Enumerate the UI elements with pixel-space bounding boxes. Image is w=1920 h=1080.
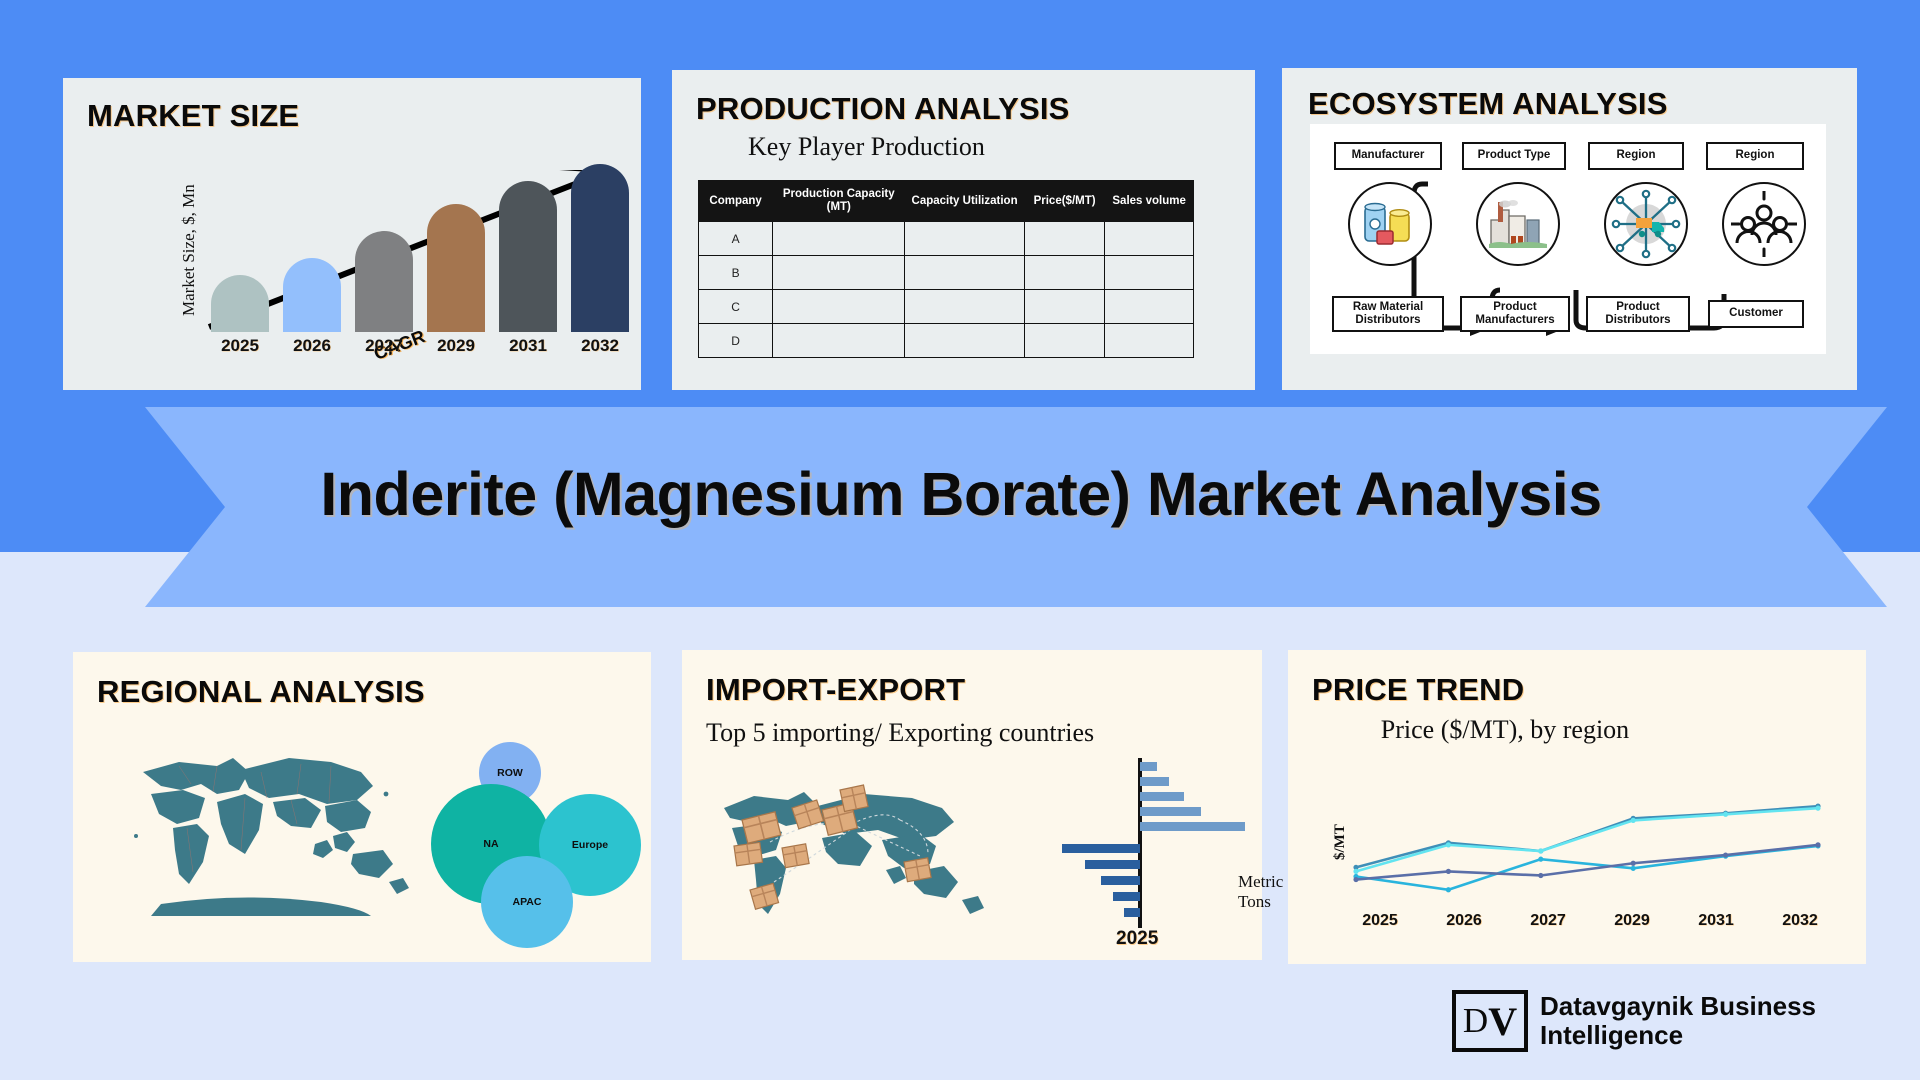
cell-company: C — [699, 290, 773, 324]
card-title-regional: REGIONAL ANALYSIS — [97, 674, 425, 710]
trade-subtitle: Top 5 importing/ Exporting countries — [706, 718, 1094, 748]
bar — [499, 181, 557, 332]
cell-utilization — [905, 222, 1025, 256]
table-header-row: Company Production Capacity (MT) Capacit… — [699, 181, 1194, 222]
eco-box-region-distributor: Region — [1588, 142, 1684, 170]
price-trend-lines — [1342, 790, 1832, 908]
bar-label: 2026 — [293, 336, 331, 356]
price-point — [1538, 848, 1543, 853]
price-point — [1631, 818, 1636, 823]
barrels-icon — [1348, 182, 1432, 266]
table-row: D — [699, 324, 1194, 358]
eco-box-raw-material-distributors: Raw Material Distributors — [1332, 296, 1444, 332]
market-size-chart: Market Size, $, Mn CAGR 2025202620272029… — [63, 130, 641, 390]
tornado-metric-label: Metric Tons — [1238, 872, 1283, 912]
market-size-bar-2029: 2029 — [427, 204, 485, 356]
infographic-page: MARKET SIZE Market Size, $, Mn CAGR 2025… — [0, 0, 1920, 1080]
card-title-price: PRICE TREND — [1312, 672, 1524, 708]
tornado-export-bar — [1124, 908, 1140, 917]
eco-box-region-customer: Region — [1706, 142, 1804, 170]
price-x-label: 2029 — [1602, 912, 1662, 930]
bar — [355, 231, 413, 332]
cell-company: B — [699, 256, 773, 290]
tornado-import-bar — [1140, 762, 1157, 771]
th-price: Price($/MT) — [1024, 181, 1104, 222]
tornado-export-bar — [1113, 892, 1140, 901]
price-point — [1723, 852, 1728, 857]
eco-box-customer: Customer — [1708, 300, 1804, 328]
cell-sales — [1105, 222, 1194, 256]
title-banner: Inderite (Magnesium Borate) Market Analy… — [35, 407, 1887, 607]
distribution-network-icon — [1604, 182, 1688, 266]
price-point — [1446, 869, 1451, 874]
production-subtitle: Key Player Production — [748, 132, 985, 162]
cell-price — [1024, 222, 1104, 256]
price-x-axis-labels: 202520262027202920312032 — [1350, 912, 1830, 930]
eco-box-product-distributors: Product Distributors — [1586, 296, 1690, 332]
market-size-bar-2025: 2025 — [211, 275, 269, 356]
cell-company: A — [699, 222, 773, 256]
card-production-analysis: PRODUCTION ANALYSIS Key Player Productio… — [672, 70, 1255, 390]
key-player-production-table: Company Production Capacity (MT) Capacit… — [698, 180, 1194, 358]
price-x-label: 2027 — [1518, 912, 1578, 930]
eco-box-manufacturer: Manufacturer — [1334, 142, 1442, 170]
cell-price — [1024, 290, 1104, 324]
cell-price — [1024, 324, 1104, 358]
tornado-import-bar — [1140, 792, 1184, 801]
card-ecosystem-analysis: ECOSYSTEM ANALYSIS — [1282, 68, 1857, 390]
card-title-ecosystem: ECOSYSTEM ANALYSIS — [1308, 86, 1668, 122]
eco-box-product-type: Product Type — [1462, 142, 1566, 170]
table-row: B — [699, 256, 1194, 290]
price-point — [1631, 861, 1636, 866]
price-subtitle: Price ($/MT), by region — [1380, 712, 1630, 747]
tornado-import-bar — [1140, 777, 1169, 786]
cell-sales — [1105, 290, 1194, 324]
bar-label: 2029 — [437, 336, 475, 356]
logo-name-line2: Intelligence — [1540, 1021, 1816, 1050]
price-x-label: 2025 — [1350, 912, 1410, 930]
logo-name-line1: Datavgaynik Business — [1540, 992, 1816, 1021]
card-market-size: MARKET SIZE Market Size, $, Mn CAGR 2025… — [63, 78, 641, 390]
logo-letter-v: V — [1488, 998, 1517, 1045]
customers-icon — [1722, 182, 1806, 266]
table-row: A — [699, 222, 1194, 256]
logo-letter-d: D — [1463, 1001, 1488, 1041]
price-point — [1815, 806, 1820, 811]
price-point — [1353, 869, 1358, 874]
cell-utilization — [905, 324, 1025, 358]
bar — [427, 204, 485, 332]
price-point — [1353, 877, 1358, 882]
cell-company: D — [699, 324, 773, 358]
card-regional-analysis: REGIONAL ANALYSIS ROW NA — [73, 652, 651, 962]
bar — [571, 164, 629, 332]
bar-label: 2031 — [509, 336, 547, 356]
bar — [283, 258, 341, 332]
price-point — [1723, 812, 1728, 817]
tornado-export-bar — [1085, 860, 1140, 869]
tornado-import-bar — [1140, 822, 1245, 831]
logo: DV Datavgaynik Business Intelligence — [1452, 990, 1816, 1052]
price-point — [1815, 842, 1820, 847]
cell-utilization — [905, 256, 1025, 290]
world-map-icon — [121, 732, 421, 932]
bar-label: 2027 — [365, 336, 403, 356]
price-point — [1538, 873, 1543, 878]
cell-capacity — [773, 256, 905, 290]
price-x-label: 2026 — [1434, 912, 1494, 930]
market-size-bar-2032: 2032 — [571, 164, 629, 356]
trade-flow-map-icon — [714, 762, 1014, 932]
market-size-bar-2026: 2026 — [283, 258, 341, 356]
cell-capacity — [773, 290, 905, 324]
ecosystem-diagram: Manufacturer Product Type Region Region … — [1310, 124, 1826, 354]
eco-box-product-manufacturers: Product Manufacturers — [1460, 296, 1570, 332]
th-sales: Sales volume — [1105, 181, 1194, 222]
price-x-label: 2031 — [1686, 912, 1746, 930]
bar — [211, 275, 269, 332]
th-company: Company — [699, 181, 773, 222]
card-title-trade: IMPORT-EXPORT — [706, 672, 965, 708]
card-price-trend: PRICE TREND Price ($/MT), by region $/MT… — [1288, 650, 1866, 964]
th-capacity: Production Capacity (MT) — [773, 181, 905, 222]
logo-mark-dv: DV — [1452, 990, 1528, 1052]
tornado-import-bar — [1140, 807, 1201, 816]
cell-sales — [1105, 324, 1194, 358]
price-point — [1446, 887, 1451, 892]
market-size-bar-2027: 2027 — [355, 231, 413, 356]
price-point — [1631, 866, 1636, 871]
tornado-export-bar — [1101, 876, 1140, 885]
market-size-y-axis-label: Market Size, $, Mn — [179, 184, 199, 316]
price-x-label: 2032 — [1770, 912, 1830, 930]
price-line-series-2 — [1356, 808, 1818, 871]
logo-text: Datavgaynik Business Intelligence — [1540, 992, 1816, 1050]
cell-capacity — [773, 324, 905, 358]
th-utilization: Capacity Utilization — [905, 181, 1025, 222]
market-size-bar-2031: 2031 — [499, 181, 557, 356]
cell-capacity — [773, 222, 905, 256]
price-point — [1446, 842, 1451, 847]
market-size-bars: 202520262027202920312032 — [211, 156, 641, 356]
tornado-year-label: 2025 — [1116, 928, 1158, 950]
tornado-export-bar — [1062, 844, 1140, 853]
price-point — [1538, 857, 1543, 862]
card-title-market-size: MARKET SIZE — [87, 98, 299, 134]
import-export-tornado-chart — [1060, 758, 1250, 938]
bar-label: 2025 — [221, 336, 259, 356]
card-title-production: PRODUCTION ANALYSIS — [696, 91, 1070, 127]
factory-icon — [1476, 182, 1560, 266]
page-title: Inderite (Magnesium Borate) Market Analy… — [35, 459, 1887, 529]
cell-utilization — [905, 290, 1025, 324]
card-import-export: IMPORT-EXPORT Top 5 importing/ Exporting… — [682, 650, 1262, 960]
bubble-apac: APAC — [481, 856, 573, 948]
table-row: C — [699, 290, 1194, 324]
cell-sales — [1105, 256, 1194, 290]
cell-price — [1024, 256, 1104, 290]
bar-label: 2032 — [581, 336, 619, 356]
